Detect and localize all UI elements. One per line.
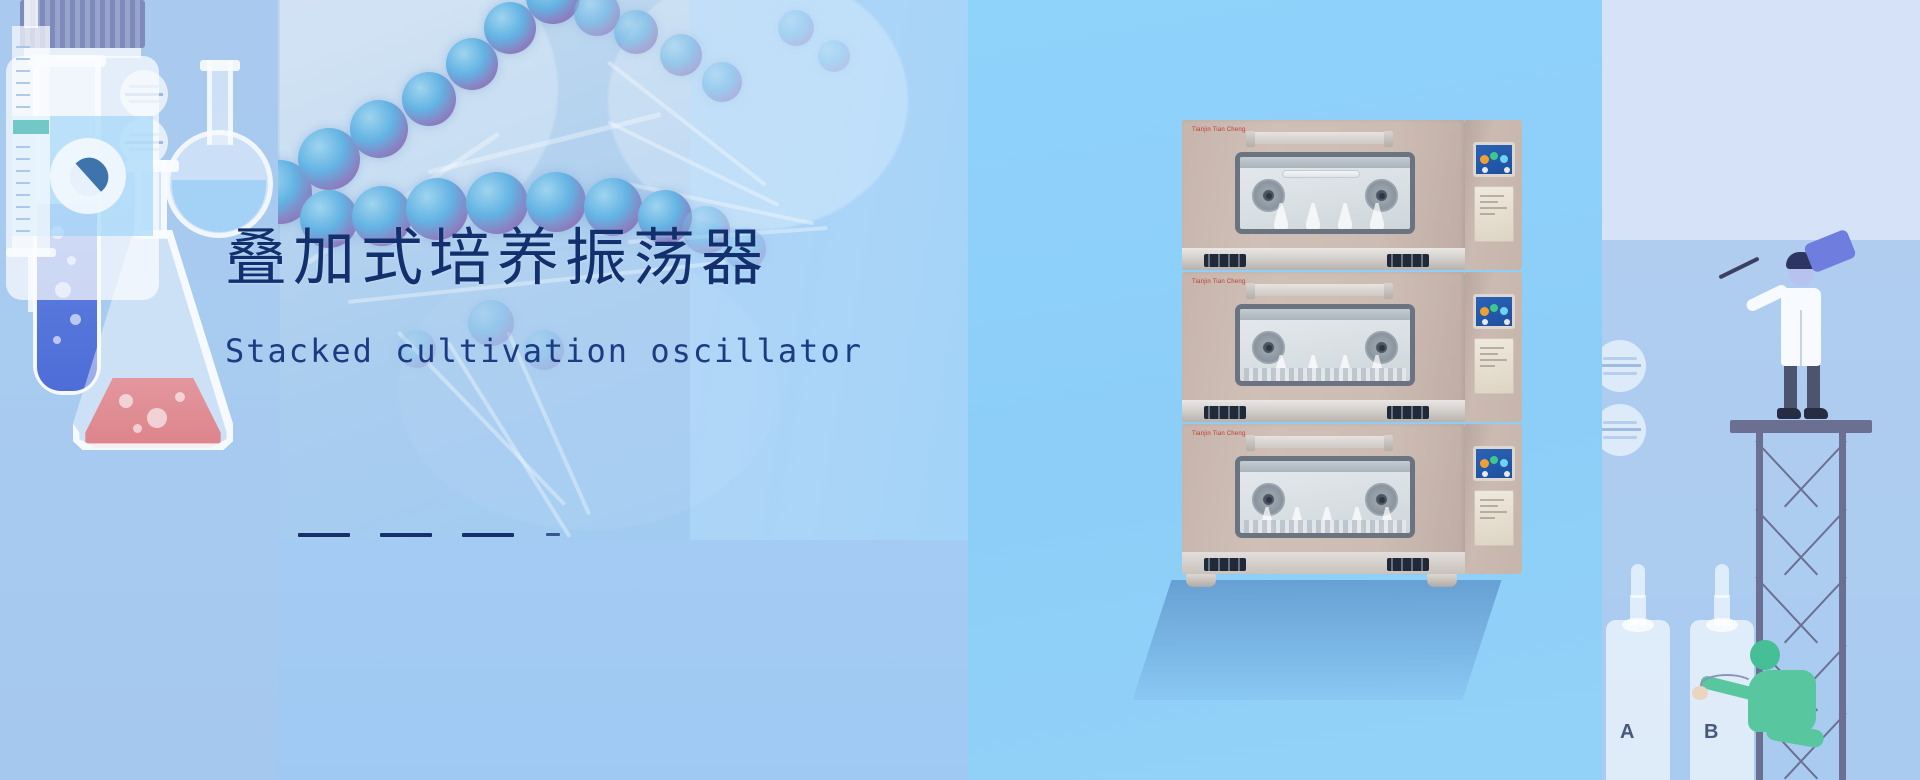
brand-label: Tianjin Tian Cheng <box>1192 127 1245 133</box>
spec-label <box>1474 186 1514 242</box>
circle-badge-icon <box>1602 340 1646 392</box>
stacked-cultivation-oscillator-image: Tianjin Tian Cheng TSW-1232 <box>1182 120 1522 585</box>
lcd-control-screen[interactable] <box>1473 142 1515 177</box>
page-title: 叠加式培养振荡器 <box>225 225 985 294</box>
circle-badge-icon <box>1602 404 1646 456</box>
vent-grille <box>1387 558 1429 571</box>
right-lab-illustration: A B <box>1602 0 1920 780</box>
ampoule-label: A <box>1620 721 1634 744</box>
vent-grille <box>1387 406 1429 419</box>
door-handle <box>1252 132 1387 144</box>
ampoule-a-icon: A <box>1606 560 1670 780</box>
door-handle <box>1252 284 1387 296</box>
vent-grille <box>1204 406 1246 419</box>
left-lab-illustration <box>0 0 290 780</box>
decorative-divider <box>298 533 658 542</box>
spec-label <box>1474 338 1514 394</box>
banner-text-block: 叠加式培养振荡器 Stacked cultivation oscillator <box>225 225 985 370</box>
scientist-with-telescope-figure <box>1757 240 1847 430</box>
lcd-control-screen[interactable] <box>1473 446 1515 481</box>
vent-grille <box>1204 558 1246 571</box>
viewing-window <box>1235 456 1415 538</box>
brand-label: Tianjin Tian Cheng <box>1192 431 1245 437</box>
climber-figure <box>1710 630 1860 780</box>
spec-label <box>1474 490 1514 546</box>
equipment-shadow <box>1133 580 1502 700</box>
vent-grille <box>1387 254 1429 267</box>
telescope-icon <box>1803 228 1857 273</box>
equipment-feet <box>1182 574 1522 588</box>
interior-lamp <box>1282 170 1360 178</box>
fan-icon <box>1365 483 1398 516</box>
background-band-dna-lower <box>278 540 968 780</box>
shaker-unit: Tianjin Tian Cheng TSW-1232 <box>1182 424 1522 574</box>
product-banner: Tianjin Tian Cheng TSW-1232 <box>0 0 1920 780</box>
vent-grille <box>1204 254 1246 267</box>
shaker-tray <box>1244 368 1406 381</box>
shaker-unit: Tianjin Tian Cheng TSW-1232 <box>1182 272 1522 422</box>
brand-label: Tianjin Tian Cheng <box>1192 279 1245 285</box>
shaker-unit: Tianjin Tian Cheng TSW-1232 <box>1182 120 1522 270</box>
viewing-window <box>1235 152 1415 234</box>
page-subtitle: Stacked cultivation oscillator <box>225 332 985 370</box>
shaker-tray <box>1244 520 1406 533</box>
lcd-control-screen[interactable] <box>1473 294 1515 329</box>
fan-icon <box>1365 331 1398 364</box>
door-handle <box>1252 436 1387 448</box>
pointer-stick-icon <box>1718 257 1759 280</box>
fan-icon <box>1365 179 1398 212</box>
viewing-window <box>1235 304 1415 386</box>
